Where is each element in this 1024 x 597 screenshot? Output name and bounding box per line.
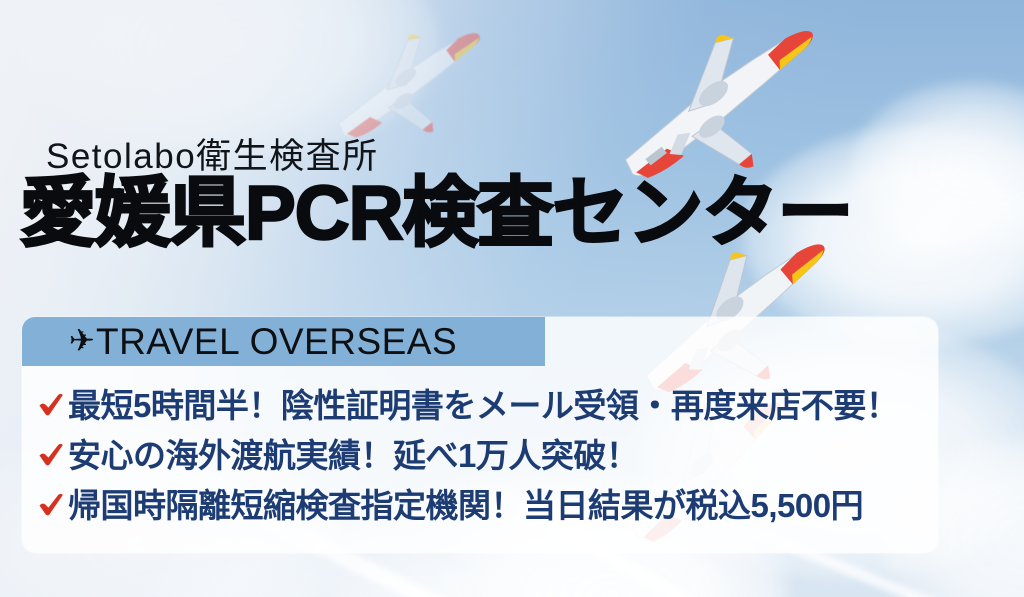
travel-overseas-ribbon: ✈ TRAVEL OVERSEAS [22, 317, 545, 366]
red-check-icon [36, 390, 66, 420]
red-check-icon [36, 490, 66, 520]
promo-banner: Setolabo衛生検査所 愛媛県PCR検査センター ✈ TRAVEL OVER… [0, 0, 1024, 597]
ribbon-label: TRAVEL OVERSEAS [96, 321, 457, 363]
list-item-label: 帰国時隔離短縮検査指定機関！当日結果が税込5,500円 [68, 489, 863, 522]
list-item: 最短5時間半！陰性証明書をメール受領・再度来店不要！ [36, 380, 936, 430]
page-title: 愛媛県PCR検査センター [20, 176, 852, 252]
list-item: 安心の海外渡航実績！延べ1万人突破！ [36, 430, 936, 480]
airplane-icon: ✈ [69, 325, 95, 356]
red-check-icon [36, 440, 66, 470]
list-item-label: 最短5時間半！陰性証明書をメール受領・再度来店不要！ [68, 389, 898, 422]
list-item-label: 安心の海外渡航実績！延べ1万人突破！ [68, 439, 638, 472]
list-item: 帰国時隔離短縮検査指定機関！当日結果が税込5,500円 [36, 480, 936, 530]
feature-list: 最短5時間半！陰性証明書をメール受領・再度来店不要！ 安心の海外渡航実績！延べ1… [36, 380, 936, 530]
